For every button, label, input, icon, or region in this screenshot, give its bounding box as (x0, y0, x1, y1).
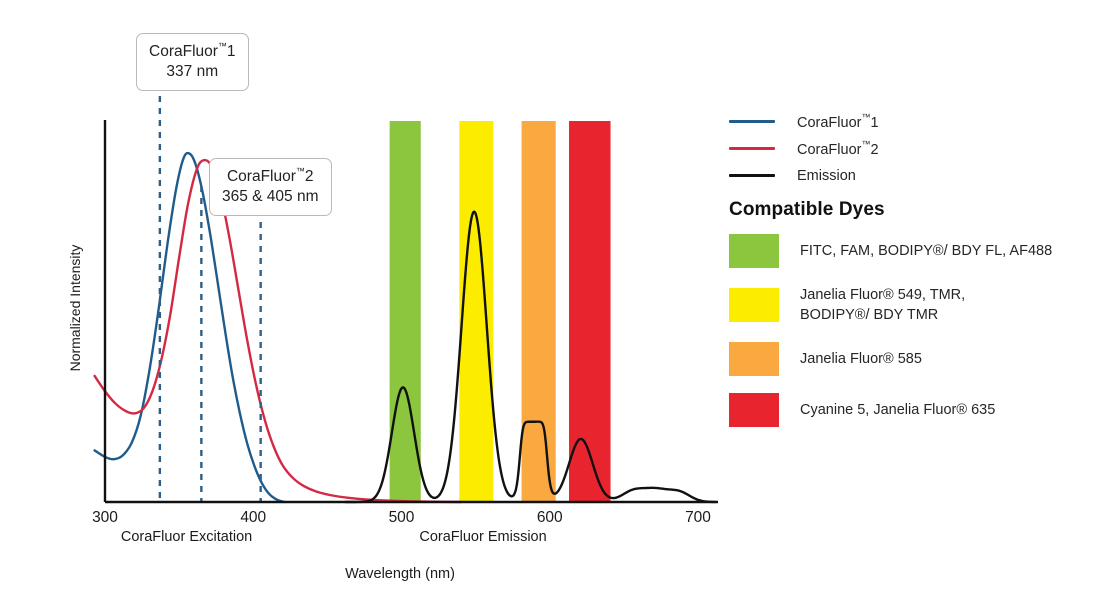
dye-color-swatch (729, 234, 779, 268)
legend-label: CoraFluor™1 (797, 112, 879, 131)
annotation-corafluor1: CoraFluor™1 337 nm (136, 33, 249, 91)
dye-label: Cyanine 5, Janelia Fluor® 635 (800, 400, 995, 420)
x-tick-300: 300 (75, 509, 135, 527)
annotation1-name: CoraFluor (149, 43, 218, 60)
annotation2-name: CoraFluor (227, 168, 296, 185)
dye-row-3[interactable]: Cyanine 5, Janelia Fluor® 635 (729, 393, 1109, 427)
annotation2-value: 365 & 405 nm (222, 187, 319, 207)
x-tick-700: 700 (668, 509, 728, 527)
chart-page: CoraFluor™1 337 nm CoraFluor™2 365 & 405… (0, 0, 1110, 612)
legend-label: Emission (797, 168, 856, 184)
dye-row-1[interactable]: Janelia Fluor® 549, TMR,BODIPY®/ BDY TMR (729, 285, 1109, 325)
trademark-icon: ™ (218, 41, 227, 51)
legend-line-swatch (729, 120, 775, 123)
annotation-corafluor2: CoraFluor™2 365 & 405 nm (209, 158, 332, 216)
x-axis-label: Wavelength (nm) (0, 566, 800, 582)
compatible-dyes-list: FITC, FAM, BODIPY®/ BDY FL, AF488Janelia… (729, 234, 1109, 444)
dye-label: Janelia Fluor® 585 (800, 349, 922, 369)
emission-band-yellow (459, 121, 493, 502)
dye-color-swatch (729, 342, 779, 376)
dye-color-swatch (729, 288, 779, 322)
legend-line-swatch (729, 147, 775, 150)
series-legend: CoraFluor™1CoraFluor™2Emission (729, 108, 1104, 189)
annotation1-value: 337 nm (149, 62, 236, 82)
legend-label: CoraFluor™2 (797, 139, 879, 158)
trademark-icon: ™ (296, 166, 305, 176)
x-tick-600: 600 (520, 509, 580, 527)
legend-row-0[interactable]: CoraFluor™1 (729, 108, 1104, 135)
dye-label: FITC, FAM, BODIPY®/ BDY FL, AF488 (800, 241, 1052, 261)
x-tick-500: 500 (372, 509, 432, 527)
legend-row-2[interactable]: Emission (729, 162, 1104, 189)
dye-label: Janelia Fluor® 549, TMR,BODIPY®/ BDY TMR (800, 285, 965, 325)
dye-row-0[interactable]: FITC, FAM, BODIPY®/ BDY FL, AF488 (729, 234, 1109, 268)
emission-band-orange (522, 121, 556, 502)
annotation2-num: 2 (305, 168, 314, 185)
legend-line-swatch (729, 174, 775, 177)
y-axis-label: Normalized Intensity (67, 208, 83, 408)
dye-row-2[interactable]: Janelia Fluor® 585 (729, 342, 1109, 376)
annotation1-num: 1 (227, 43, 236, 60)
dye-color-swatch (729, 393, 779, 427)
x-tick-400: 400 (223, 509, 283, 527)
section-label-emission: CoraFluor Emission (373, 529, 593, 545)
legend-row-1[interactable]: CoraFluor™2 (729, 135, 1104, 162)
compatible-dyes-title: Compatible Dyes (729, 199, 885, 221)
section-label-excitation: CoraFluor Excitation (77, 529, 297, 545)
